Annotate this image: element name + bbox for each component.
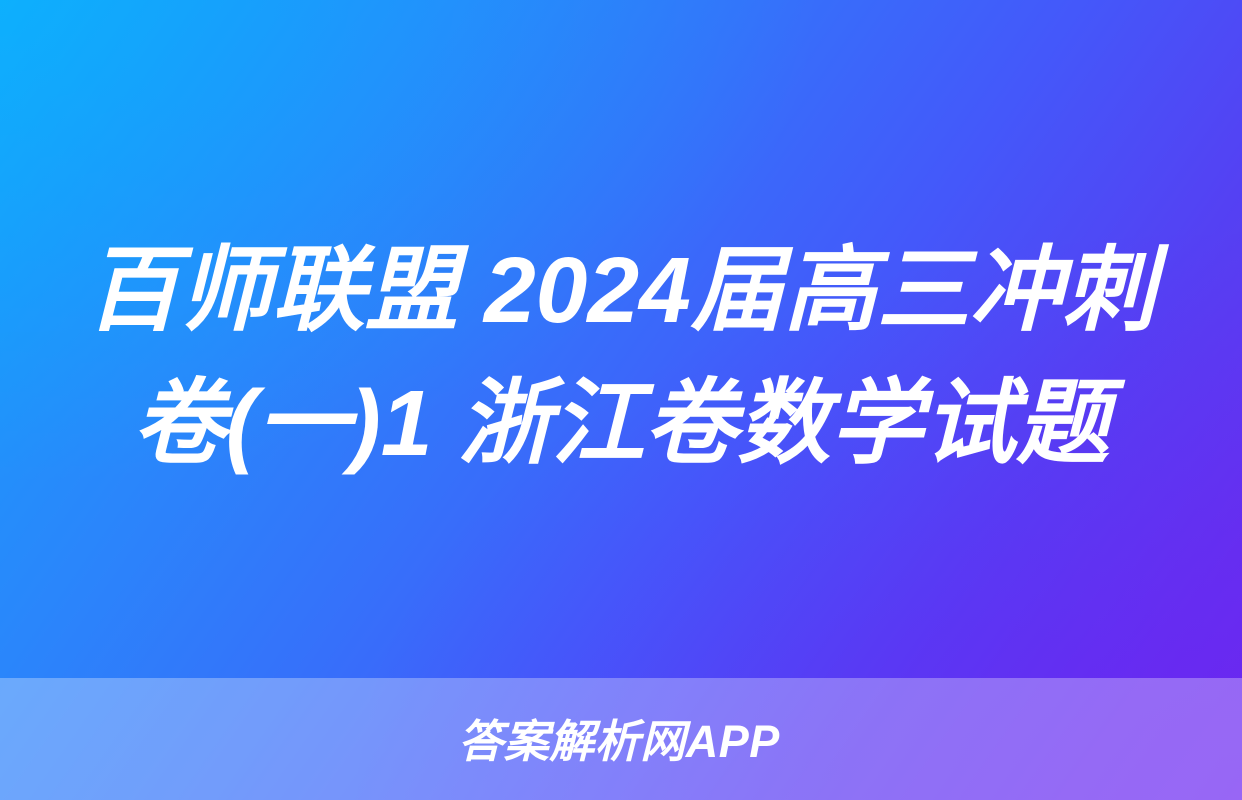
watermark-band: 答案解析网APP	[0, 678, 1242, 800]
app-watermark-label: 答案解析网APP	[458, 719, 780, 764]
page-title: 百师联盟 2024届高三冲刺卷(一)1 浙江卷数学试题	[78, 224, 1164, 490]
title-area: 百师联盟 2024届高三冲刺卷(一)1 浙江卷数学试题	[0, 0, 1242, 678]
promo-card: 百师联盟 2024届高三冲刺卷(一)1 浙江卷数学试题 答案解析网APP	[0, 0, 1242, 800]
